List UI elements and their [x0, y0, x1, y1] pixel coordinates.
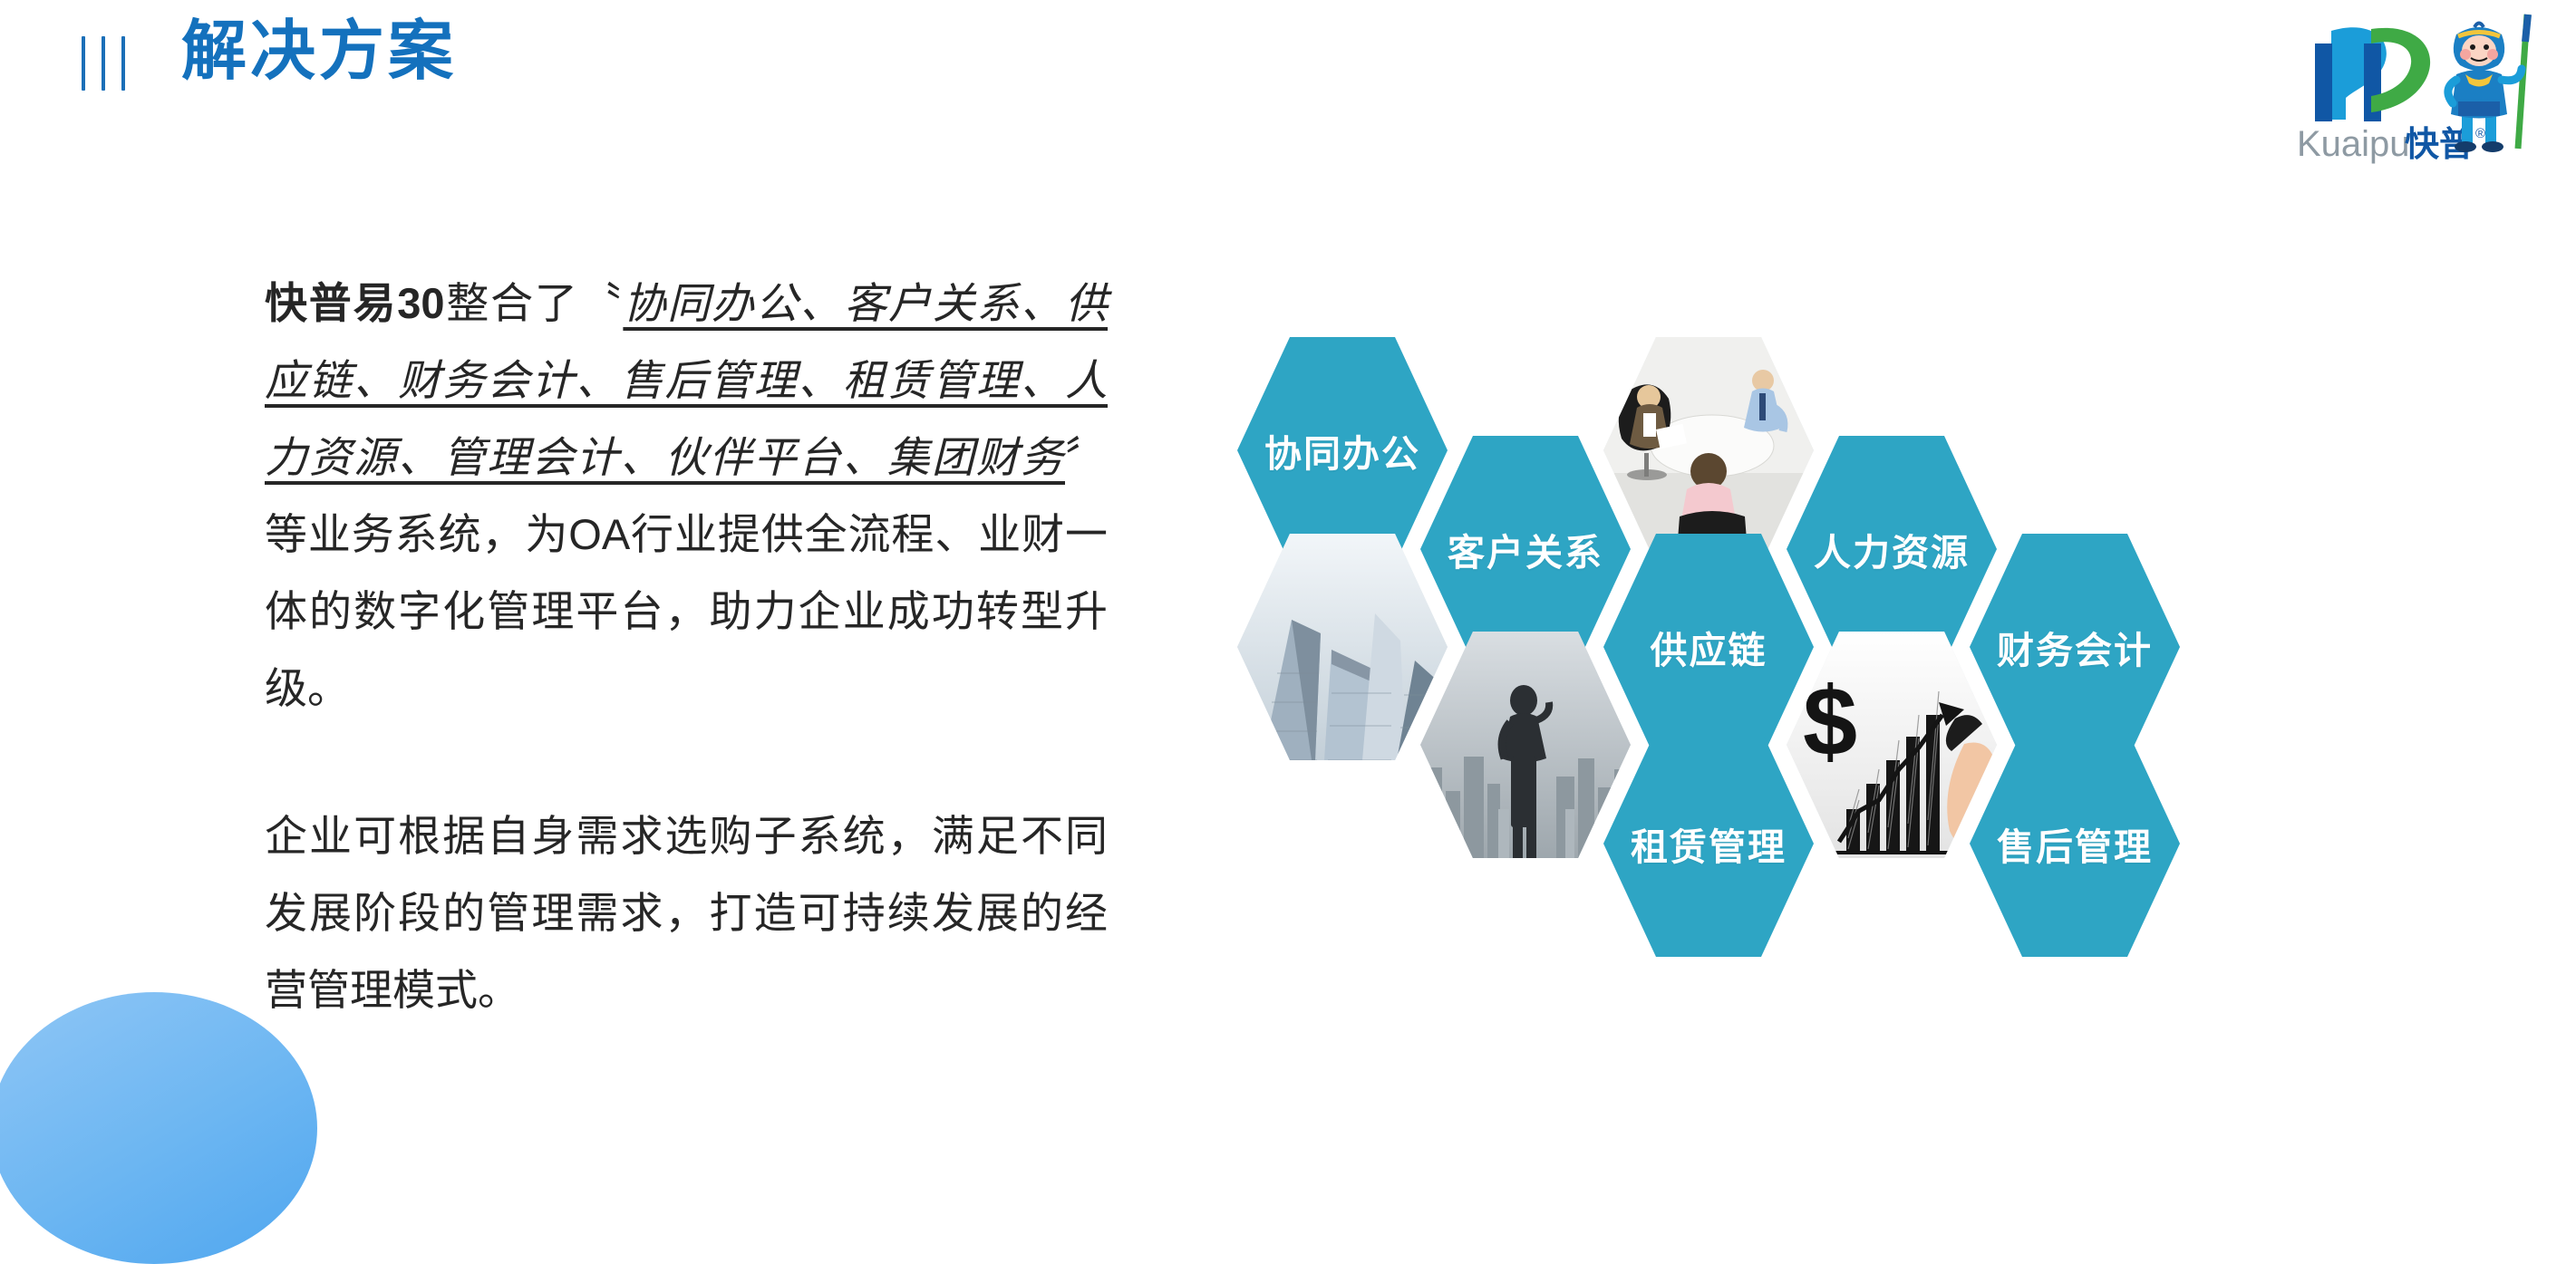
mascot-arm-right [2502, 69, 2522, 81]
logo-k-stem [2315, 43, 2332, 121]
hexagon-honeycomb-diagram: 协同办公 客户关系 [1215, 299, 2393, 1096]
mascot-boot-right [2482, 141, 2503, 152]
mascot-staff-tip [2525, 14, 2528, 42]
hex-lease[interactable]: 租赁管理 [1603, 730, 1814, 957]
paragraph-1-lead: 快普易30 [265, 279, 445, 327]
office-meeting-photo [1603, 337, 1814, 564]
page-header: 解决方案 Kuaipu 快普 ® [0, 0, 2576, 154]
brand-logo-graphic: Kuaipu 快普 ® [2284, 4, 2556, 171]
hex-supply-label: 供应链 [1651, 620, 1767, 674]
mascot-cheek-left [2460, 49, 2471, 60]
paragraph-1: 快普易30整合了〝协同办公、客户关系、供应链、财务会计、售后管理、租赁管理、人力… [265, 265, 1108, 727]
bar-2-icon [102, 36, 105, 91]
hex-hr-label: 人力资源 [1814, 522, 1970, 576]
hex-crm-label: 客户关系 [1448, 522, 1603, 576]
brand-logo: Kuaipu 快普 ® [2284, 4, 2556, 171]
hex-service-label: 售后管理 [1997, 816, 2153, 871]
bar-1-icon [82, 36, 85, 91]
bar-3-icon [121, 36, 125, 91]
page-title: 解决方案 [181, 16, 457, 88]
hex-hr[interactable]: 人力资源 [1787, 436, 1997, 662]
hex-supply[interactable]: 供应链 [1603, 534, 1814, 760]
hex-finance-label: 财务会计 [1997, 620, 2153, 674]
hex-skyline-photo[interactable] [1420, 632, 1631, 858]
paragraph-1-before-quote: 整合了〝 [445, 279, 624, 327]
corner-blob-decoration [0, 992, 317, 1264]
hex-crm[interactable]: 客户关系 [1420, 436, 1631, 662]
mascot-eye-left [2470, 44, 2475, 50]
three-vertical-bars-icon [82, 36, 125, 91]
hex-collab[interactable]: 协同办公 [1237, 337, 1448, 564]
hex-meeting-photo[interactable] [1603, 337, 1814, 564]
hex-building-photo[interactable] [1237, 534, 1448, 760]
mascot-crest [2474, 24, 2484, 28]
logo-latin-name: Kuaipu [2297, 124, 2410, 164]
mascot-eye-right [2484, 44, 2489, 50]
hex-growth-photo[interactable]: $ [1787, 632, 1997, 858]
logo-registered-mark: ® [2475, 126, 2485, 141]
hex-lease-label: 租赁管理 [1631, 816, 1787, 871]
growth-chart-photo: $ [1787, 632, 1997, 858]
hex-collab-label: 协同办公 [1264, 423, 1420, 478]
body-copy: 快普易30整合了〝协同办公、客户关系、供应链、财务会计、售后管理、租赁管理、人力… [265, 265, 1108, 1028]
hex-finance[interactable]: 财务会计 [1970, 534, 2180, 760]
skyscrapers-photo [1237, 534, 1448, 760]
mascot-cheek-right [2487, 49, 2498, 60]
hex-service[interactable]: 售后管理 [1970, 730, 2180, 957]
mascot-skirt [2458, 101, 2500, 116]
mascot-boot-left [2455, 141, 2476, 152]
paragraph-2: 企业可根据自身需求选购子系统，满足不同发展阶段的管理需求，打造可持续发展的经营管… [265, 797, 1108, 1028]
businessman-skyline-photo [1420, 632, 1631, 858]
svg-text:$: $ [1803, 666, 1857, 776]
